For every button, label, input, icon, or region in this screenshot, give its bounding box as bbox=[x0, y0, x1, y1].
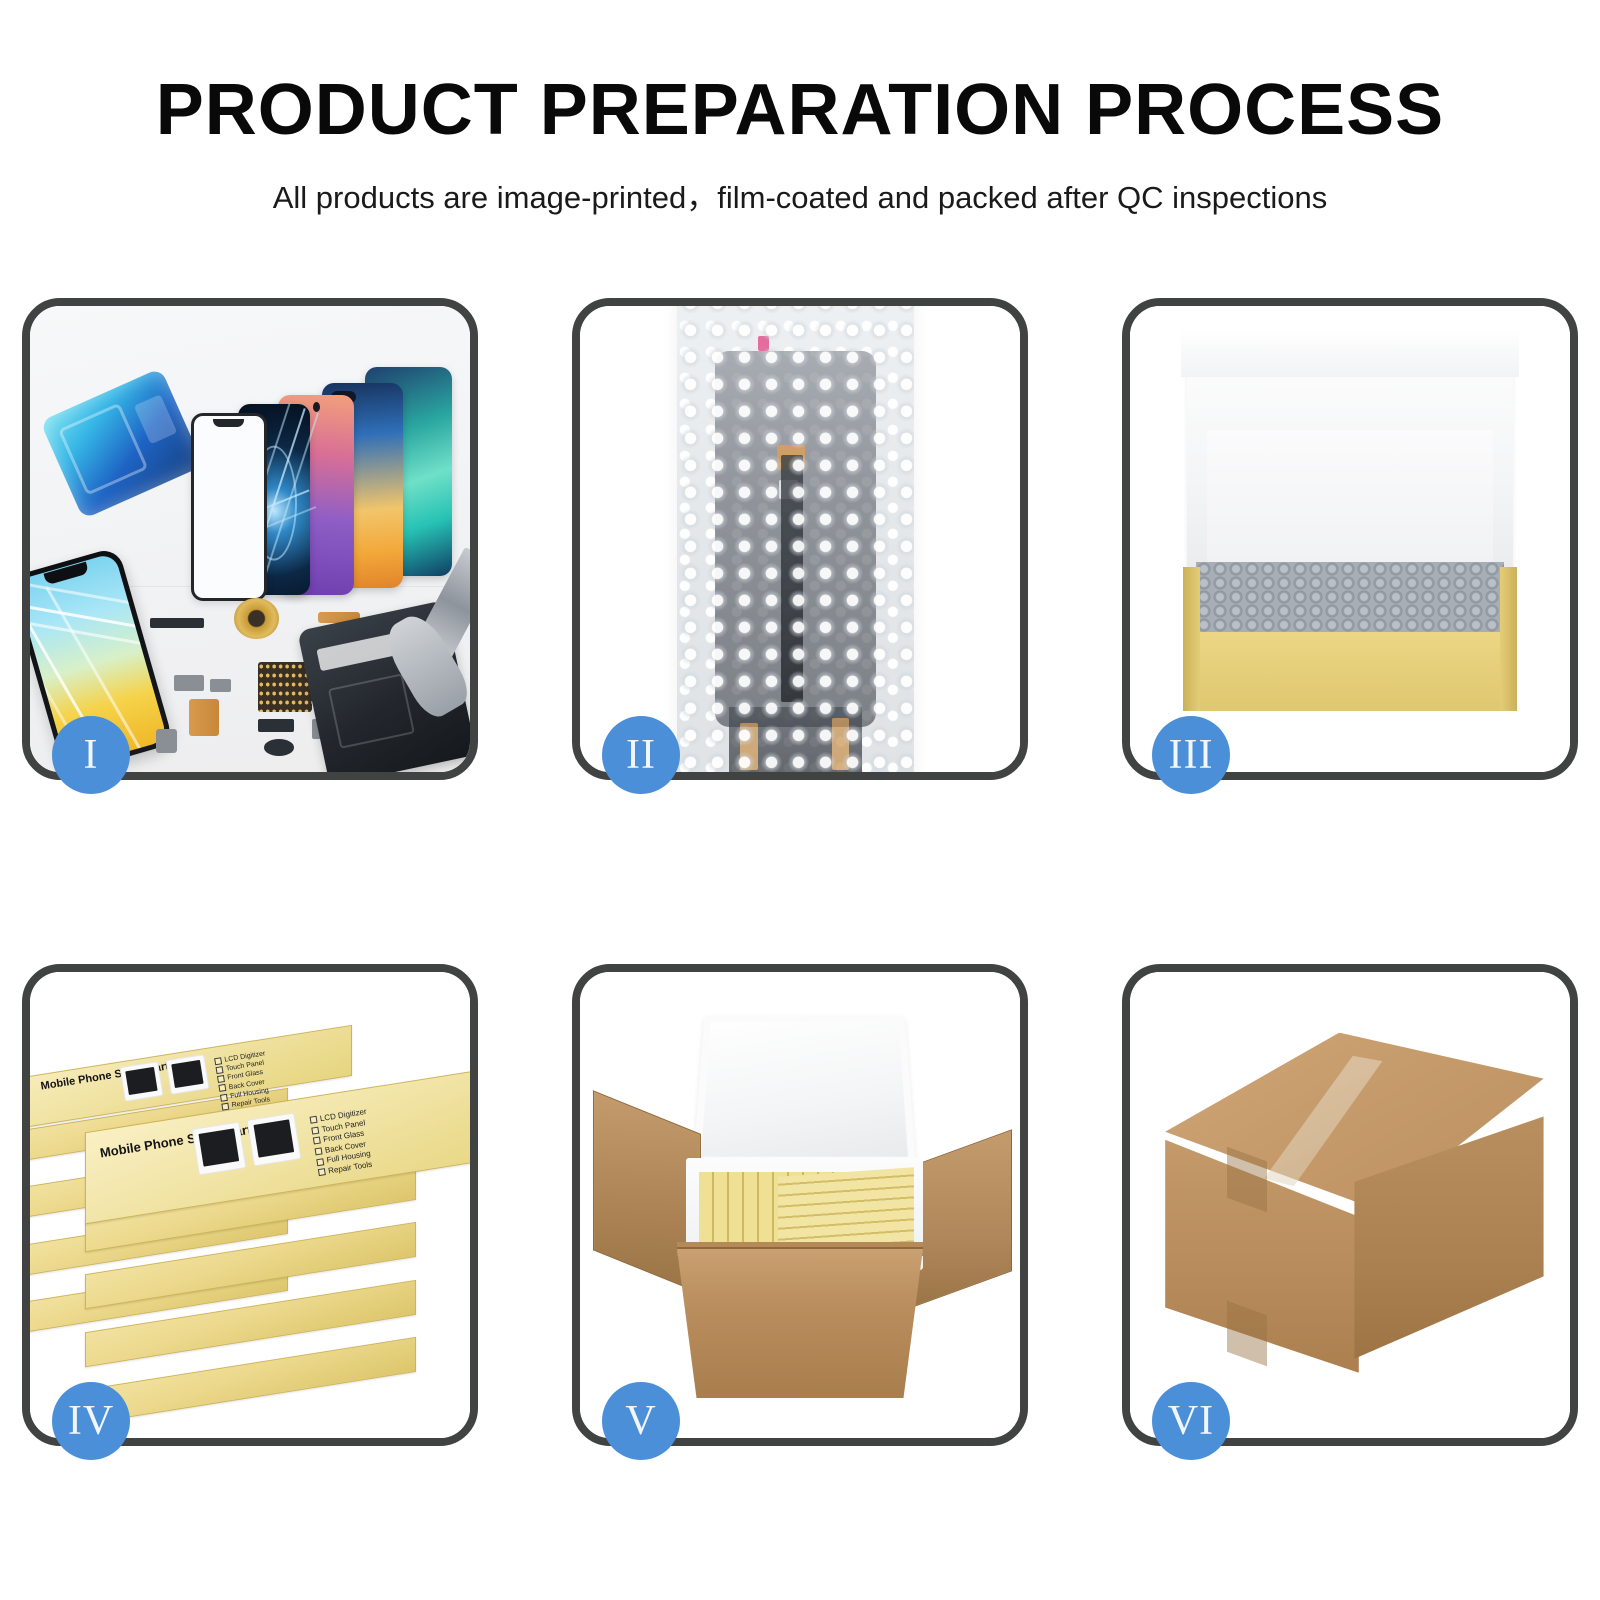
bubble-wrap-sleeve bbox=[677, 306, 915, 772]
checkbox-icon bbox=[217, 1075, 225, 1083]
step-4-image: Mobile Phone Spare Parts LCD Digitizer T… bbox=[30, 972, 470, 1438]
checkbox-icon bbox=[315, 1147, 323, 1155]
step-1-image bbox=[30, 306, 470, 772]
step-badge-1: I bbox=[52, 716, 130, 794]
process-step-6: VI bbox=[1122, 964, 1578, 1446]
inner-box-white-lid bbox=[1187, 348, 1513, 590]
box-checklist: LCD Digitizer Touch Panel Front Glass Ba… bbox=[309, 1107, 375, 1178]
metal-bracket-part-2 bbox=[210, 679, 231, 692]
step-badge-3: III bbox=[1152, 716, 1230, 794]
checkbox-icon bbox=[318, 1168, 326, 1176]
ic-chip-part bbox=[258, 719, 294, 732]
wireless-charging-coil-icon bbox=[234, 598, 279, 638]
page-subtitle: All products are image-printed，film-coat… bbox=[0, 172, 1600, 217]
step-badge-5: V bbox=[602, 1382, 680, 1460]
speaker-mesh-part bbox=[150, 618, 204, 628]
foam-lid bbox=[693, 1016, 916, 1164]
step-badge-6: VI bbox=[1152, 1382, 1230, 1460]
checkbox-icon bbox=[220, 1093, 228, 1101]
process-steps-grid: I II bbox=[22, 298, 1578, 1446]
checkbox-icon bbox=[215, 1066, 223, 1074]
chip-array-part bbox=[258, 662, 312, 712]
metal-bracket-part bbox=[174, 675, 204, 690]
retail-box-stacks: Mobile Phone Spare Parts LCD Digitizer T… bbox=[30, 1019, 470, 1429]
bubble-texture-overlay bbox=[677, 306, 915, 772]
tray-front-wall bbox=[1183, 632, 1517, 711]
step-badge-4: IV bbox=[52, 1382, 130, 1460]
sim-tray-part bbox=[156, 729, 177, 752]
process-step-3: III bbox=[1122, 298, 1578, 780]
screen-fan-group bbox=[162, 371, 452, 604]
step-badge-2: II bbox=[602, 716, 680, 794]
bubble-wrapped-contents bbox=[1196, 562, 1504, 637]
process-step-2: II bbox=[572, 298, 1028, 780]
checkbox-icon bbox=[310, 1116, 318, 1124]
page-header: PRODUCT PREPARATION PROCESS All products… bbox=[0, 0, 1600, 217]
box-screen-graphic bbox=[192, 1122, 247, 1176]
box-checklist: LCD Digitizer Touch Panel Front Glass Ba… bbox=[214, 1049, 273, 1112]
lid-inner-face bbox=[1207, 430, 1494, 580]
camera-module-part bbox=[264, 739, 294, 756]
checkbox-icon bbox=[316, 1158, 324, 1166]
page-title: PRODUCT PREPARATION PROCESS bbox=[0, 74, 1600, 146]
process-step-4: Mobile Phone Spare Parts LCD Digitizer T… bbox=[22, 964, 478, 1446]
checkbox-icon bbox=[218, 1084, 226, 1092]
step-6-image bbox=[1130, 972, 1570, 1438]
box-screen-graphic bbox=[165, 1054, 209, 1094]
step-3-image bbox=[1130, 306, 1570, 772]
carton-body bbox=[677, 1247, 923, 1398]
checkbox-icon bbox=[214, 1057, 222, 1065]
process-step-1: I bbox=[22, 298, 478, 780]
box-screen-graphic bbox=[119, 1061, 163, 1101]
process-step-5: V bbox=[572, 964, 1028, 1446]
checkbox-icon bbox=[313, 1137, 321, 1145]
step-5-image bbox=[580, 972, 1020, 1438]
front-glass-panel bbox=[191, 413, 267, 601]
box-screen-graphic bbox=[247, 1113, 302, 1167]
volume-flex-part bbox=[189, 699, 219, 736]
tray-left-lip bbox=[1183, 567, 1201, 711]
step-2-image bbox=[580, 306, 1020, 772]
checkbox-icon bbox=[311, 1126, 319, 1134]
tray-right-lip bbox=[1500, 567, 1518, 711]
